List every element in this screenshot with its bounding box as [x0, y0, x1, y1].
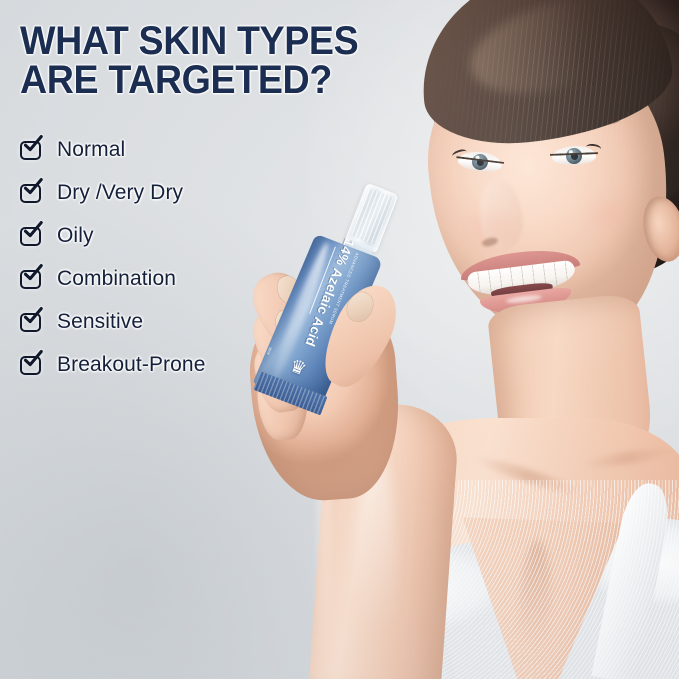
list-item-label: Breakout-Prone	[57, 354, 205, 375]
list-item[interactable]: Oily	[20, 214, 320, 257]
check-mark-icon	[23, 178, 43, 198]
list-item-label: Dry /Very Dry	[57, 182, 183, 203]
list-item[interactable]: Normal	[20, 128, 320, 171]
list-item[interactable]: Dry /Very Dry	[20, 171, 320, 214]
checked-checkbox-icon[interactable]	[20, 139, 44, 161]
check-mark-icon	[23, 135, 43, 155]
skin-type-checklist: Normal Dry /Very Dry Oily	[20, 128, 320, 386]
checked-checkbox-icon[interactable]	[20, 182, 44, 204]
list-item-label: Combination	[57, 268, 176, 289]
list-item-label: Sensitive	[57, 311, 143, 332]
checked-checkbox-icon[interactable]	[20, 311, 44, 333]
check-mark-icon	[23, 307, 43, 327]
promo-image: ADVANCED TREATMENT SERUM 14% Azelaic Aci…	[0, 0, 679, 679]
page-title: WHAT SKIN TYPES ARE TARGETED?	[20, 22, 415, 100]
checked-checkbox-icon[interactable]	[20, 225, 44, 247]
check-mark-icon	[23, 221, 43, 241]
checked-checkbox-icon[interactable]	[20, 268, 44, 290]
checked-checkbox-icon[interactable]	[20, 354, 44, 376]
check-mark-icon	[23, 264, 43, 284]
list-item-label: Oily	[57, 225, 94, 246]
list-item[interactable]: Breakout-Prone	[20, 343, 320, 386]
list-item-label: Normal	[57, 139, 125, 160]
check-mark-icon	[23, 350, 43, 370]
list-item[interactable]: Sensitive	[20, 300, 320, 343]
list-item[interactable]: Combination	[20, 257, 320, 300]
